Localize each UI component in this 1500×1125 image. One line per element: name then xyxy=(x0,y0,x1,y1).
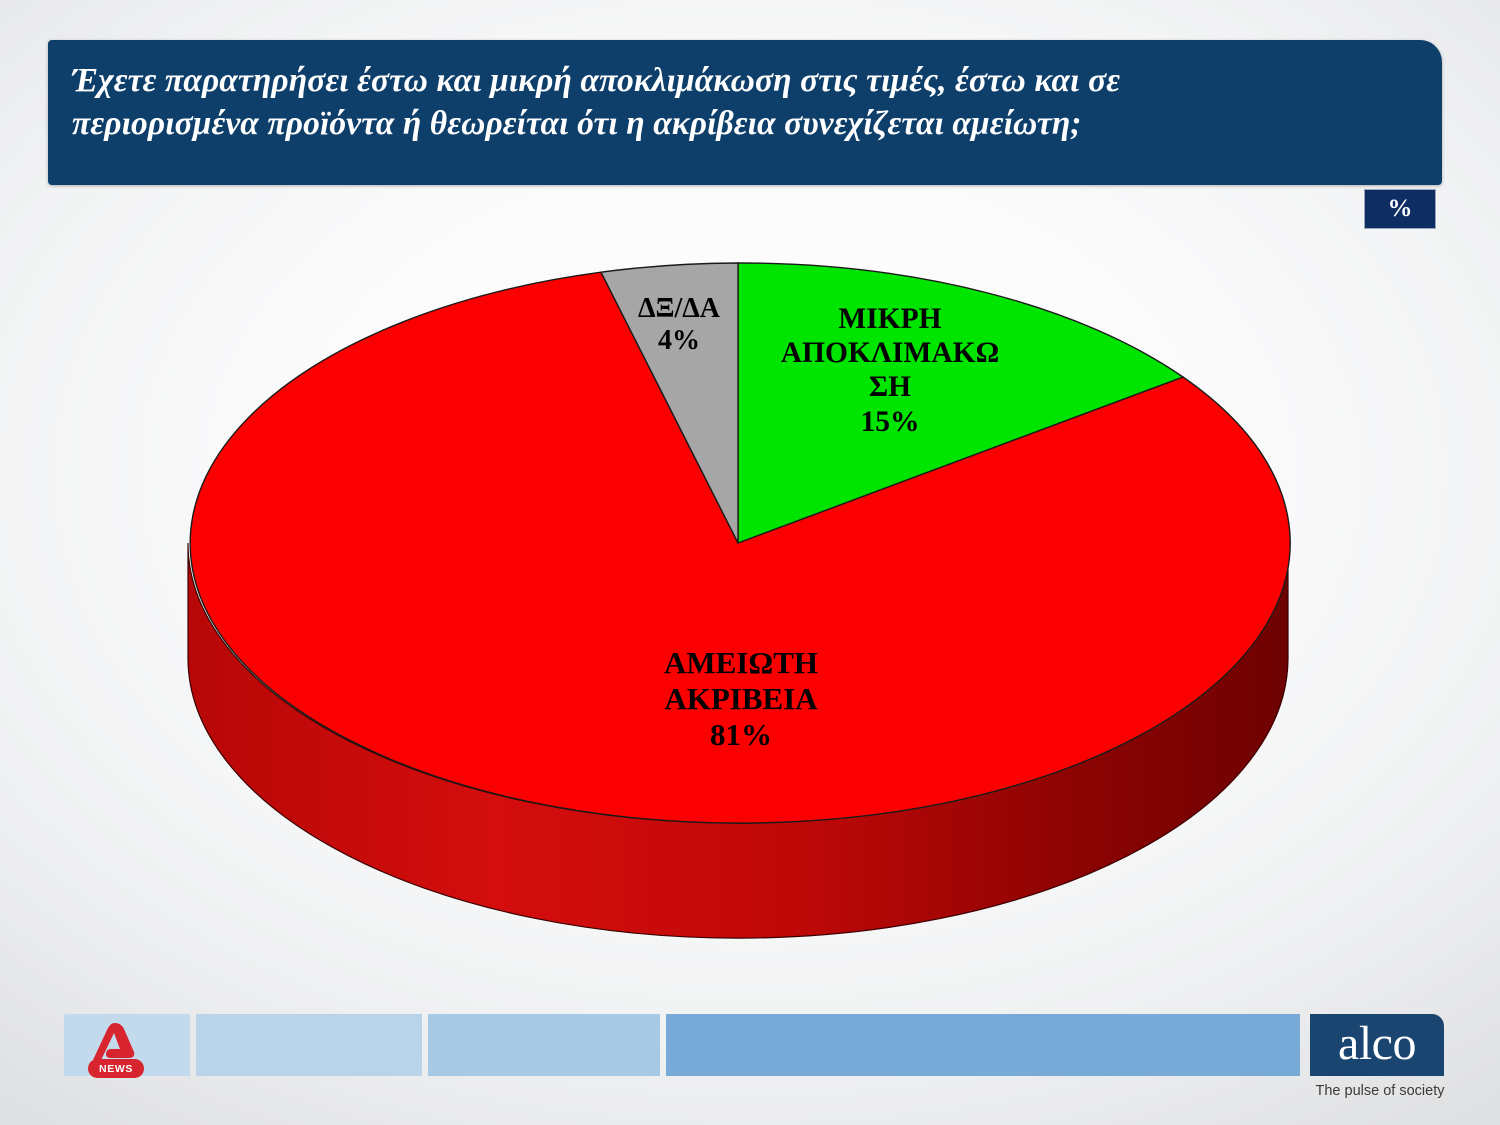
percent-unit-label: % xyxy=(1388,195,1413,223)
alco-logo-text: alco xyxy=(1338,1022,1416,1065)
pie-chart-svg xyxy=(0,230,1500,990)
alpha-news-badge-label: NEWS xyxy=(99,1063,133,1075)
footer-bar xyxy=(0,1014,1500,1076)
alco-tagline: The pulse of society xyxy=(1310,1083,1450,1099)
percent-unit-badge: % xyxy=(1364,189,1436,229)
slide-root: Έχετε παρατηρήσει έστω και μικρή αποκλιμ… xyxy=(0,0,1500,1125)
title-banner: Έχετε παρατηρήσει έστω και μικρή αποκλιμ… xyxy=(48,40,1442,185)
page-title: Έχετε παρατηρήσει έστω και μικρή αποκλιμ… xyxy=(72,60,1408,145)
pie-chart: ΑΜΕΙΩΤΗ ΑΚΡΙΒΕΙΑ 81% ΜΙΚΡΗ ΑΠΟΚΛΙΜΑΚΩ ΣΗ… xyxy=(0,230,1500,990)
alpha-news-badge: NEWS xyxy=(88,1059,144,1078)
alco-logo: alco xyxy=(1310,1014,1444,1076)
footer-block-3 xyxy=(428,1014,660,1076)
footer-block-4 xyxy=(666,1014,1300,1076)
footer-block-2 xyxy=(196,1014,422,1076)
